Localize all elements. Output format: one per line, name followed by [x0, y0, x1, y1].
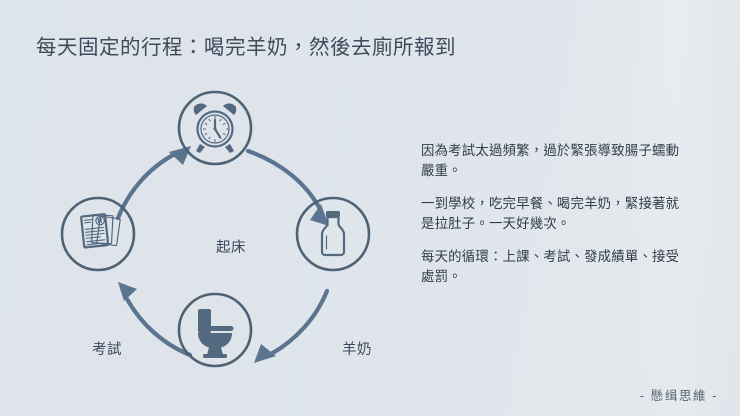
exam-papers-icon — [81, 214, 120, 247]
node-diarrhea[interactable] — [179, 294, 251, 366]
page-title: 每天固定的行程：喝完羊奶，然後去廁所報到 — [36, 30, 456, 60]
body-paragraph-2: 一到學校，吃完早餐、喝完羊奶，緊接著就是拉肚子。一天好幾次。 — [421, 194, 689, 233]
body-paragraph-1: 因為考試太過頻繁，過於緊張導致腸子蠕動嚴重。 — [421, 141, 689, 180]
node-label-exam: 考試 — [92, 338, 122, 359]
alarm-clock-icon — [194, 103, 237, 153]
node-wake[interactable] — [179, 92, 251, 164]
node-label-milk: 羊奶 — [342, 338, 372, 359]
arrow-milk-to-diarrhea — [254, 291, 327, 363]
slide-canvas: 每天固定的行程：喝完羊奶，然後去廁所報到 .ring { fill: none;… — [0, 0, 740, 416]
arrow-diarrhea-to-exam — [118, 282, 190, 355]
node-milk-ring — [297, 198, 369, 270]
node-milk[interactable] — [297, 198, 369, 270]
node-label-wake: 起床 — [216, 236, 246, 257]
arrow-exam-to-wake — [118, 146, 191, 218]
node-exam[interactable] — [62, 198, 134, 270]
toilet-icon — [198, 309, 234, 358]
cycle-diagram: .ring { fill: none; stroke: #4d6275; str… — [30, 70, 410, 400]
body-text-block: 因為考試太過頻繁，過於緊張導致腸子蠕動嚴重。 一到學校，吃完早餐、喝完羊奶，緊接… — [421, 141, 689, 286]
footer-watermark: - 懸缉思維 - — [640, 385, 718, 404]
arrow-wake-to-milk — [248, 151, 329, 226]
body-paragraph-3: 每天的循環：上課、考試、發成績單、接受處罰。 — [421, 247, 689, 286]
